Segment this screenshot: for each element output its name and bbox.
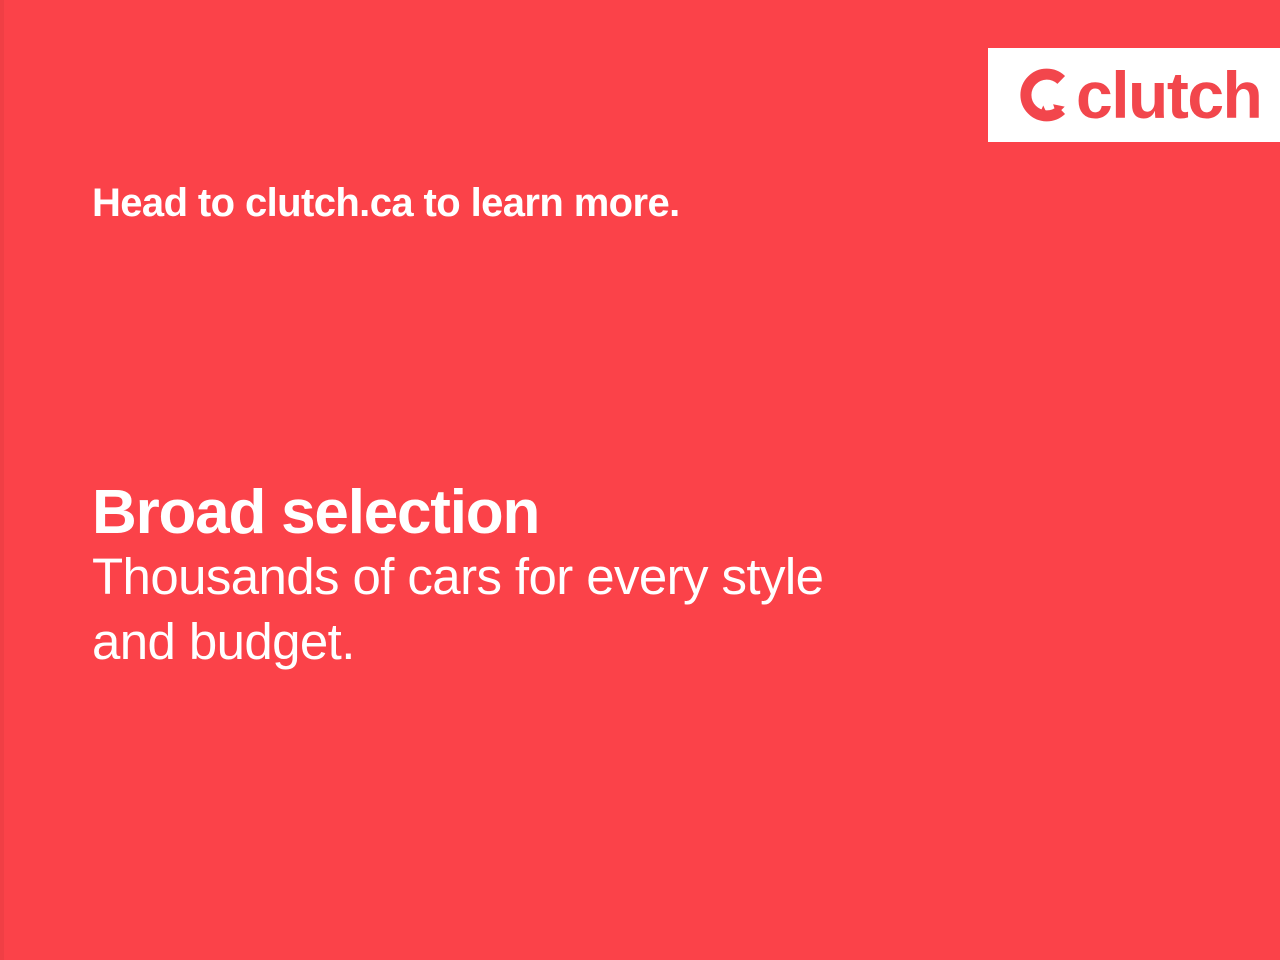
brand-wordmark: clutch bbox=[1076, 62, 1261, 128]
kicker-text: Head to clutch.ca to learn more. bbox=[92, 180, 680, 226]
brand-logo-lockup: clutch bbox=[1016, 62, 1261, 128]
page-title: Broad selection bbox=[92, 479, 539, 547]
subheading: Thousands of cars for every style and bu… bbox=[92, 545, 1052, 675]
subheading-line-2: and budget. bbox=[92, 610, 1052, 675]
clutch-c-mark-icon bbox=[1016, 66, 1074, 124]
subheading-line-1: Thousands of cars for every style bbox=[92, 545, 1052, 610]
left-edge-shade bbox=[0, 0, 4, 960]
brand-logo-plate: clutch bbox=[988, 48, 1280, 142]
promo-slide: clutch Head to clutch.ca to learn more. … bbox=[0, 0, 1280, 960]
